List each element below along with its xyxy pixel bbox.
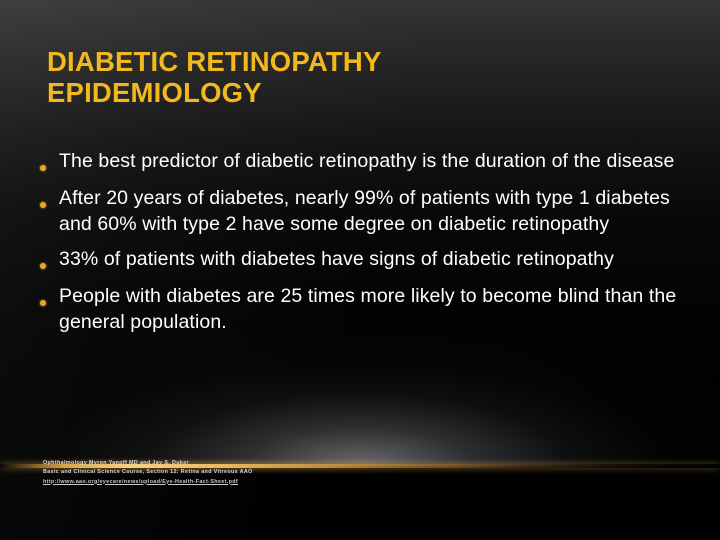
citation-url-link[interactable]: http://www.aao.org/eyecare/news/upload/E… bbox=[43, 478, 238, 487]
bullet-text: 33% of patients with diabetes have signs… bbox=[59, 246, 700, 272]
bullet-dot-icon bbox=[40, 148, 59, 176]
list-item: People with diabetes are 25 times more l… bbox=[40, 283, 700, 335]
citation-line-source: Basic and Clinical Science Course, Secti… bbox=[43, 468, 463, 477]
list-item: The best predictor of diabetic retinopat… bbox=[40, 148, 700, 176]
list-item: After 20 years of diabetes, nearly 99% o… bbox=[40, 185, 700, 237]
bullet-text: The best predictor of diabetic retinopat… bbox=[59, 148, 700, 174]
bullet-dot-icon bbox=[40, 246, 59, 274]
citation-line-author: Ophthalmology Myron Yanoff MD and Jay S.… bbox=[43, 459, 463, 468]
bullet-dot-icon bbox=[40, 185, 59, 213]
bullet-text: After 20 years of diabetes, nearly 99% o… bbox=[59, 185, 700, 237]
bullet-list: The best predictor of diabetic retinopat… bbox=[40, 148, 700, 344]
slide-title: DIABETIC RETINOPATHY EPIDEMIOLOGY bbox=[47, 46, 687, 108]
citation-block: Ophthalmology Myron Yanoff MD and Jay S.… bbox=[43, 459, 463, 487]
slide-canvas: DIABETIC RETINOPATHY EPIDEMIOLOGY The be… bbox=[0, 0, 720, 540]
bullet-text: People with diabetes are 25 times more l… bbox=[59, 283, 700, 335]
list-item: 33% of patients with diabetes have signs… bbox=[40, 246, 700, 274]
bullet-dot-icon bbox=[40, 283, 59, 311]
